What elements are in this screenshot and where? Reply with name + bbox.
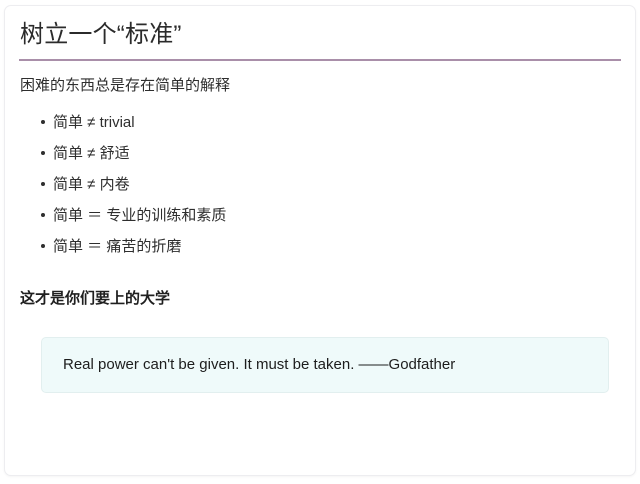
list-item: 简单 ＝ 痛苦的折磨 [19,231,621,262]
quote-callout: Real power can't be given. It must be ta… [41,337,609,393]
bullet-dot-icon [41,120,45,124]
bullet-list: 简单 ≠ trivial 简单 ≠ 舒适 简单 ≠ 内卷 简单 ＝ 专业的训练和… [19,107,621,262]
list-item: 简单 ≠ trivial [19,107,621,138]
bullet-dot-icon [41,213,45,217]
list-item: 简单 ≠ 舒适 [19,138,621,169]
bullet-dot-icon [41,151,45,155]
lead-paragraph: 困难的东西总是存在简单的解释 [19,61,621,98]
page-title: 树立一个“标准” [19,6,621,59]
slide-content: 树立一个“标准” 困难的东西总是存在简单的解释 简单 ≠ trivial 简单 … [5,6,635,475]
list-item-label: 简单 ＝ 痛苦的折磨 [53,238,181,255]
emphasis-line: 这才是你们要上的大学 [19,262,621,309]
list-item-label: 简单 ＝ 专业的训练和素质 [53,207,226,224]
list-item-label: 简单 ≠ 内卷 [53,176,130,193]
bullet-dot-icon [41,182,45,186]
bullet-dot-icon [41,244,45,248]
list-item: 简单 ≠ 内卷 [19,169,621,200]
list-item: 简单 ＝ 专业的训练和素质 [19,200,621,231]
list-item-label: 简单 ≠ trivial [53,114,135,131]
quote-text: Real power can't be given. It must be ta… [63,354,455,375]
list-item-label: 简单 ≠ 舒适 [53,145,130,162]
slide-card: 树立一个“标准” 困难的东西总是存在简单的解释 简单 ≠ trivial 简单 … [4,5,636,476]
